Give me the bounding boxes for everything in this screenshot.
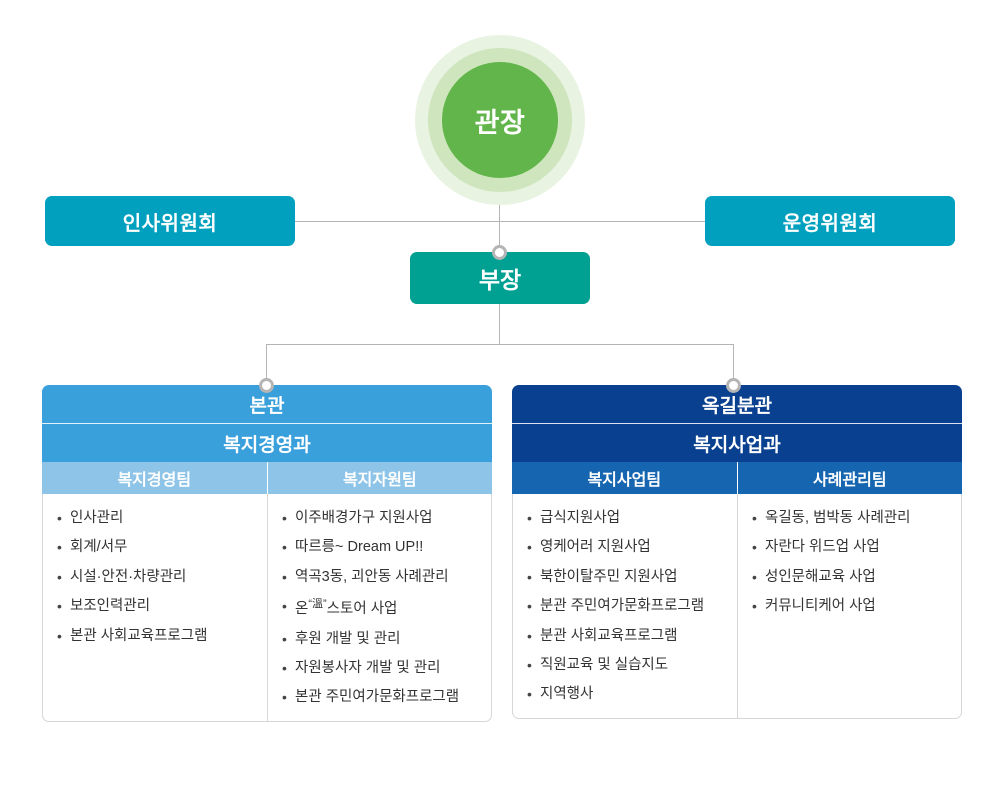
list-item: 보조인력관리: [57, 598, 257, 615]
list-item: 본관 주민여가문화프로그램: [282, 689, 481, 706]
branch-main-title-label: 본관: [250, 391, 285, 418]
team-header-bokji-saeop-label: 복지사업팀: [587, 466, 661, 490]
director-ring-inner: 관장: [442, 62, 558, 178]
organization-chart: 관장 인사위원회 운영위원회 부장 본관 복지경영과 복지경영팀 복지자원팀: [0, 0, 1000, 790]
list-item: 후원 개발 및 관리: [282, 631, 481, 648]
team-body-bokji-saeop: 급식지원사업 영케어러 지원사업 북한이탈주민 지원사업 분관 주민여가문화프로…: [513, 494, 737, 718]
branch-card-main: 본관 복지경영과 복지경영팀 복지자원팀 인사관리 회계/서무 시설·안전·차량…: [42, 385, 492, 722]
list-item: 자란다 위드업 사업: [752, 539, 951, 556]
committee-hr-label: 인사위원회: [123, 207, 218, 236]
branch-main-team-bodies: 인사관리 회계/서무 시설·안전·차량관리 보조인력관리 본관 사회교육프로그램…: [42, 494, 492, 722]
team-header-sarye-gwanri-label: 사례관리팀: [813, 466, 887, 490]
list-item: 온“溫”스토어 사업: [282, 598, 481, 618]
list-item: 성인문해교육 사업: [752, 569, 951, 586]
list-item: 본관 사회교육프로그램: [57, 628, 257, 645]
team-header-bokji-gyeongyeong[interactable]: 복지경영팀: [42, 462, 267, 494]
branch-main-team-headers: 복지경영팀 복지자원팀: [42, 462, 492, 494]
team-duty-list-bokji-jawon: 이주배경가구 지원사업 따르릉~ Dream UP!! 역곡3동, 괴안동 사례…: [282, 510, 481, 707]
list-item: 커뮤니티케어 사업: [752, 598, 951, 615]
connector-manager-down: [499, 304, 500, 344]
branch-okgil-title-label: 옥길분관: [702, 391, 772, 418]
list-item: 회계/서무: [57, 539, 257, 556]
team-body-bokji-jawon: 이주배경가구 지원사업 따르릉~ Dream UP!! 역곡3동, 괴안동 사례…: [267, 494, 491, 721]
team-header-sarye-gwanri[interactable]: 사례관리팀: [737, 462, 963, 494]
team-duty-list-bokji-gyeongyeong: 인사관리 회계/서무 시설·안전·차량관리 보조인력관리 본관 사회교육프로그램: [57, 510, 257, 645]
committee-operations-label: 운영위원회: [783, 207, 878, 236]
list-item: 급식지원사업: [527, 510, 727, 527]
node-dot-manager: [492, 245, 507, 260]
team-header-bokji-gyeongyeong-label: 복지경영팀: [117, 466, 191, 490]
team-body-sarye-gwanri: 옥길동, 범박동 사례관리 자란다 위드업 사업 성인문해교육 사업 커뮤니티케…: [737, 494, 961, 718]
branch-okgil-team-bodies: 급식지원사업 영케어러 지원사업 북한이탈주민 지원사업 분관 주민여가문화프로…: [512, 494, 962, 719]
list-item: 자원봉사자 개발 및 관리: [282, 660, 481, 677]
list-item: 역곡3동, 괴안동 사례관리: [282, 569, 481, 586]
list-item: 옥길동, 범박동 사례관리: [752, 510, 951, 527]
director-label: 관장: [475, 101, 526, 140]
list-item: 인사관리: [57, 510, 257, 527]
committee-box-operations[interactable]: 운영위원회: [705, 196, 955, 246]
list-item: 따르릉~ Dream UP!!: [282, 539, 481, 556]
team-duty-list-sarye-gwanri: 옥길동, 범박동 사례관리 자란다 위드업 사업 성인문해교육 사업 커뮤니티케…: [752, 510, 951, 616]
branch-main-department[interactable]: 복지경영과: [42, 423, 492, 462]
director-node[interactable]: 관장: [415, 35, 585, 205]
list-item: 지역행사: [527, 686, 727, 703]
list-item: 분관 사회교육프로그램: [527, 628, 727, 645]
list-item: 영케어러 지원사업: [527, 539, 727, 556]
branch-okgil-team-headers: 복지사업팀 사례관리팀: [512, 462, 962, 494]
team-body-bokji-gyeongyeong: 인사관리 회계/서무 시설·안전·차량관리 보조인력관리 본관 사회교육프로그램: [43, 494, 267, 721]
list-item: 분관 주민여가문화프로그램: [527, 598, 727, 615]
team-header-bokji-saeop[interactable]: 복지사업팀: [512, 462, 737, 494]
connector-committees-horizontal: [295, 221, 705, 222]
list-item: 시설·안전·차량관리: [57, 569, 257, 586]
team-duty-list-bokji-saeop: 급식지원사업 영케어러 지원사업 북한이탈주민 지원사업 분관 주민여가문화프로…: [527, 510, 727, 704]
connector-branch-horizontal: [266, 344, 733, 345]
branch-card-okgil: 옥길분관 복지사업과 복지사업팀 사례관리팀 급식지원사업 영케어러 지원사업 …: [512, 385, 962, 719]
manager-label: 부장: [479, 261, 521, 295]
node-dot-branch-okgil: [726, 378, 741, 393]
branch-okgil-department[interactable]: 복지사업과: [512, 423, 962, 462]
list-item: 직원교육 및 실습지도: [527, 657, 727, 674]
list-item: 이주배경가구 지원사업: [282, 510, 481, 527]
team-header-bokji-jawon-label: 복지자원팀: [343, 466, 417, 490]
committee-box-hr[interactable]: 인사위원회: [45, 196, 295, 246]
branch-main-department-label: 복지경영과: [223, 430, 310, 457]
branch-okgil-department-label: 복지사업과: [693, 430, 780, 457]
team-header-bokji-jawon[interactable]: 복지자원팀: [267, 462, 493, 494]
list-item: 북한이탈주민 지원사업: [527, 569, 727, 586]
node-dot-branch-main: [259, 378, 274, 393]
